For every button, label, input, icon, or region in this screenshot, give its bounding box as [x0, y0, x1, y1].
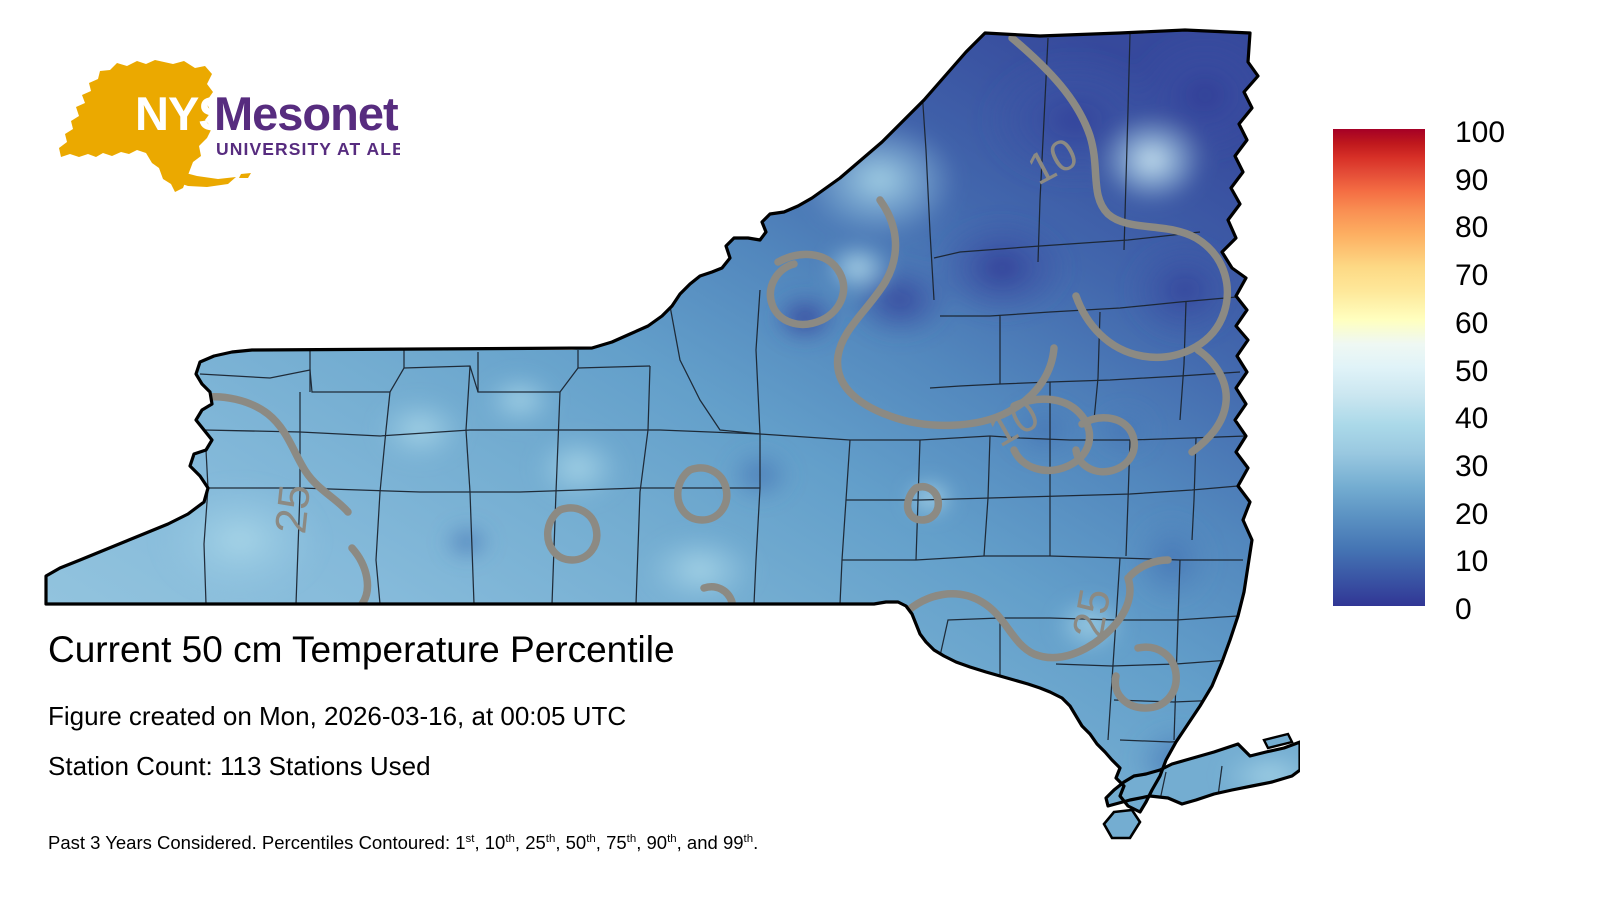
ordinal-suffix: th: [627, 833, 637, 845]
blob-adirondack-core: [932, 216, 1072, 320]
colorbar-tick-30: 30: [1455, 452, 1488, 482]
colorbar: 100 90 80 70 60 50 40 30 20 10 0: [1333, 118, 1583, 618]
blob-wny-high: [376, 398, 464, 462]
colorbar-tick-0: 0: [1455, 595, 1472, 625]
blob-capital-low: [1093, 404, 1157, 456]
blob-southern-tier-hi: [644, 534, 756, 606]
colorbar-tick-80: 80: [1455, 213, 1488, 243]
creation-timestamp: Figure created on Mon, 2026-03-16, at 00…: [48, 700, 626, 732]
page-title: Current 50 cm Temperature Percentile: [48, 628, 675, 672]
colorbar-gradient: [1333, 129, 1425, 606]
blob-nw-high: [802, 122, 958, 238]
colorbar-tick-100: 100: [1455, 118, 1505, 148]
ordinal-suffix: th: [546, 833, 556, 845]
blob-fingerlakes-high: [534, 434, 622, 502]
blob-westfield-low: [441, 522, 493, 562]
colorbar-tick-60: 60: [1455, 309, 1488, 339]
ordinal-suffix: st: [466, 833, 475, 845]
contour-label-25-west: 25: [266, 482, 320, 536]
blob-rochester-high: [484, 374, 556, 426]
colorbar-tick-40: 40: [1455, 404, 1488, 434]
colorbar-tick-70: 70: [1455, 261, 1488, 291]
contour-label-25-southeast: 25: [1064, 585, 1121, 642]
footnote: Past 3 Years Considered. Percentiles Con…: [48, 827, 758, 855]
colorbar-tick-90: 90: [1455, 166, 1488, 196]
ordinal-suffix: th: [505, 833, 515, 845]
ordinal-suffix: th: [744, 833, 754, 845]
blob-champlain-high: [1100, 116, 1204, 204]
staten-island-outline: [1104, 810, 1140, 838]
station-count-label: Station Count: 113 Stations Used: [48, 750, 431, 782]
ordinal-suffix: th: [586, 833, 596, 845]
ordinal-suffix: th: [667, 833, 677, 845]
colorbar-tick-50: 50: [1455, 357, 1488, 387]
colorbar-tick-10: 10: [1455, 547, 1488, 577]
figure-root: NYS Mesonet UNIVERSITY AT ALBANY: [0, 0, 1600, 900]
colorbar-tick-20: 20: [1455, 500, 1488, 530]
